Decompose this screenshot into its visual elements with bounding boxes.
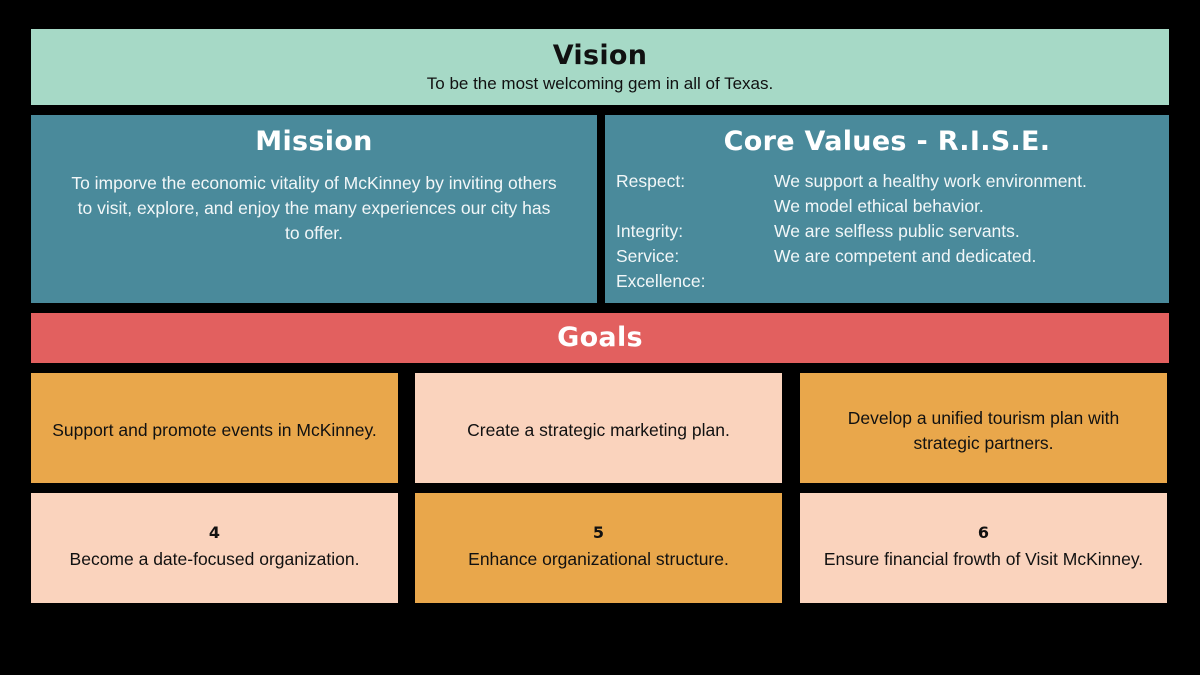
goal-text-2: Create a strategic marketing plan.	[467, 418, 730, 443]
goal-card-5[interactable]: 5 Enhance organizational structure.	[415, 493, 782, 603]
vision-panel: Vision To be the most welcoming gem in a…	[31, 29, 1169, 105]
goal-text-6: Ensure financial frowth of Visit McKinne…	[824, 547, 1143, 572]
core-value-label-spacer	[616, 194, 774, 219]
core-values-label-column: Respect: Integrity: Service: Excellence:	[616, 169, 774, 294]
goal-card-2[interactable]: Create a strategic marketing plan.	[415, 373, 782, 483]
goal-number-5: 5	[593, 524, 604, 542]
core-value-label-integrity: Integrity:	[616, 219, 774, 244]
goal-text-4: Become a date-focused organization.	[70, 547, 360, 572]
vision-statement: To be the most welcoming gem in all of T…	[427, 75, 773, 94]
strategic-plan-board: Vision To be the most welcoming gem in a…	[31, 29, 1169, 603]
core-value-label-service: Service:	[616, 244, 774, 269]
core-value-desc-1: We support a healthy work environment.	[774, 169, 1169, 194]
goal-text-3: Develop a unified tourism plan with stra…	[818, 406, 1149, 456]
mission-statement: To imporve the economic vitality of McKi…	[68, 171, 560, 246]
goal-text-1: Support and promote events in McKinney.	[52, 418, 377, 443]
core-values-description-column: We support a healthy work environment. W…	[774, 169, 1169, 294]
goal-card-4[interactable]: 4 Become a date-focused organization.	[31, 493, 398, 603]
core-value-label-respect: Respect:	[616, 169, 774, 194]
goal-card-3[interactable]: Develop a unified tourism plan with stra…	[800, 373, 1167, 483]
mission-title: Mission	[255, 126, 372, 157]
mission-panel: Mission To imporve the economic vitality…	[31, 115, 597, 303]
goal-number-4: 4	[209, 524, 220, 542]
vision-title: Vision	[553, 42, 648, 70]
goals-banner: Goals	[31, 313, 1169, 363]
core-values-panel: Core Values - R.I.S.E. Respect: Integrit…	[605, 115, 1169, 303]
goal-card-1[interactable]: Support and promote events in McKinney.	[31, 373, 398, 483]
core-value-desc-5	[774, 269, 1169, 294]
core-values-grid: Respect: Integrity: Service: Excellence:…	[605, 169, 1169, 294]
goal-card-6[interactable]: 6 Ensure financial frowth of Visit McKin…	[800, 493, 1167, 603]
core-value-label-excellence: Excellence:	[616, 269, 774, 294]
core-value-desc-3: We are selfless public servants.	[774, 219, 1169, 244]
core-values-title: Core Values - R.I.S.E.	[724, 126, 1051, 157]
core-value-desc-2: We model ethical behavior.	[774, 194, 1169, 219]
goals-title: Goals	[557, 322, 643, 353]
goal-text-5: Enhance organizational structure.	[468, 547, 729, 572]
core-value-desc-4: We are competent and dedicated.	[774, 244, 1169, 269]
goal-number-6: 6	[978, 524, 989, 542]
